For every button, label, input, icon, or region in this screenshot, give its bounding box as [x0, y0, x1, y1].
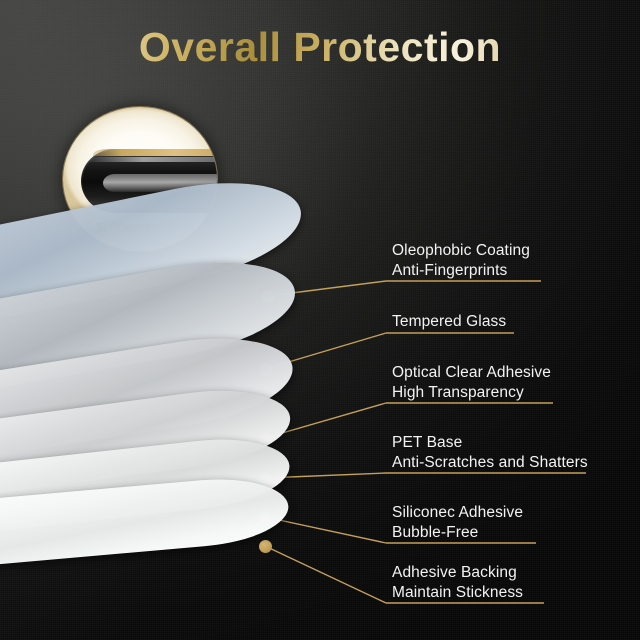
callout-label: Optical Clear AdhesiveHigh Transparency: [392, 363, 551, 403]
callout-dot-marker: [259, 540, 272, 553]
callout-label-line1: Adhesive Backing: [392, 564, 517, 581]
callout-label: Tempered Glass: [392, 312, 506, 332]
callout-label-line1: Tempered Glass: [392, 313, 506, 330]
overall-protection-poster: Overall Protection 2.5D Curved-Edge Oleo…: [0, 0, 640, 640]
curved-edge-specular-highlight: [89, 157, 217, 162]
callout-label-line2: Anti-Fingerprints: [392, 261, 530, 281]
callout-label-line2: High Transparency: [392, 383, 551, 403]
callout-label: Oleophobic CoatingAnti-Fingerprints: [392, 241, 530, 281]
callout-label-line1: Oleophobic Coating: [392, 242, 530, 259]
callout-label-line1: PET Base: [392, 434, 462, 451]
callout-label-line2: Bubble-Free: [392, 523, 523, 543]
callout-label-line1: Siliconec Adhesive: [392, 504, 523, 521]
glass-layer-stack: [0, 250, 360, 610]
callout-label-line2: Maintain Stickness: [392, 583, 523, 603]
callout-label: PET BaseAnti-Scratches and Shatters: [392, 433, 588, 473]
callout-label: Adhesive BackingMaintain Stickness: [392, 563, 523, 603]
callout-label-line2: Anti-Scratches and Shatters: [392, 453, 588, 473]
page-title: Overall Protection: [0, 24, 640, 71]
callout-label: Siliconec AdhesiveBubble-Free: [392, 503, 523, 543]
curved-edge-gold-highlight: [93, 149, 217, 156]
callout-label-line1: Optical Clear Adhesive: [392, 364, 551, 381]
